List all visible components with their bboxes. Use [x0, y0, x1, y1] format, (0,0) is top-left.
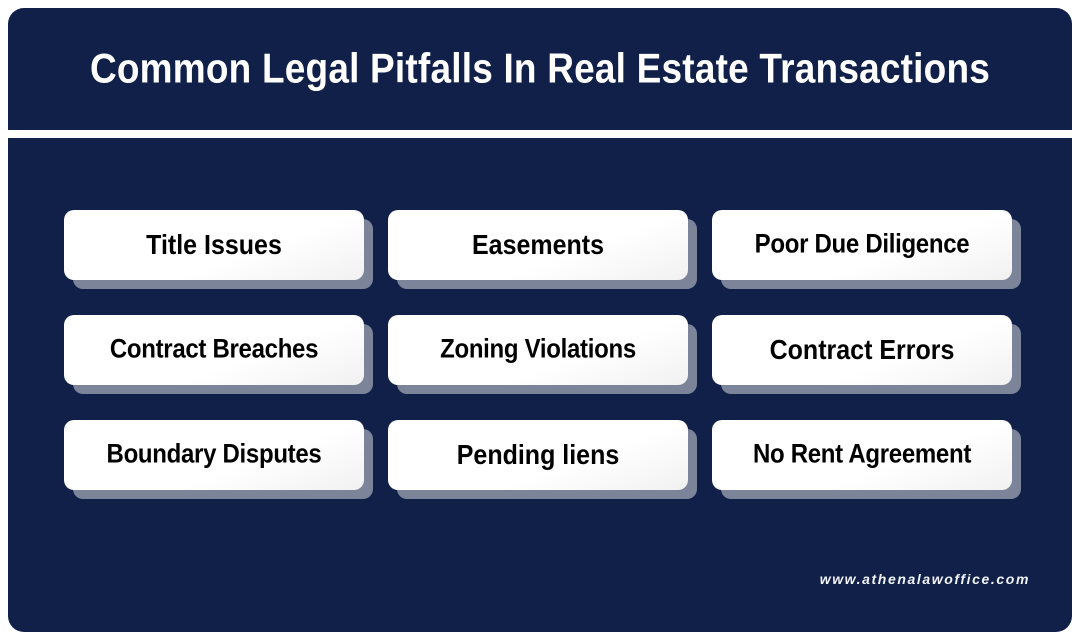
pitfall-card-pending-liens[interactable]: Pending liens	[388, 420, 688, 490]
card-label: No Rent Agreement	[747, 442, 977, 468]
website-url[interactable]: www.athenalawoffice.com	[820, 571, 1030, 587]
card-face: Boundary Disputes	[64, 420, 364, 490]
card-face: Title Issues	[64, 210, 364, 280]
pitfall-card-contract-breaches[interactable]: Contract Breaches	[64, 315, 364, 385]
pitfall-card-no-rent-agreement[interactable]: No Rent Agreement	[712, 420, 1012, 490]
header-body-divider	[8, 130, 1072, 138]
pitfall-card-zoning-violations[interactable]: Zoning Violations	[388, 315, 688, 385]
pitfall-card-poor-due-diligence[interactable]: Poor Due Diligence	[712, 210, 1012, 280]
card-label: Contract Breaches	[104, 337, 324, 363]
card-label: Zoning Violations	[434, 337, 642, 363]
card-label: Pending liens	[451, 441, 626, 469]
page-title: Common Legal Pitfalls In Real Estate Tra…	[90, 46, 990, 92]
card-face: No Rent Agreement	[712, 420, 1012, 490]
pitfall-card-contract-errors[interactable]: Contract Errors	[712, 315, 1012, 385]
card-label: Title Issues	[140, 231, 288, 259]
card-label: Contract Errors	[764, 336, 961, 364]
pitfall-card-easements[interactable]: Easements	[388, 210, 688, 280]
card-face: Pending liens	[388, 420, 688, 490]
card-label: Easements	[466, 231, 610, 259]
card-face: Easements	[388, 210, 688, 280]
card-label: Poor Due Diligence	[749, 232, 976, 258]
card-face: Zoning Violations	[388, 315, 688, 385]
pitfall-card-grid: Title Issues Easements Poor Due Diligenc…	[64, 210, 1024, 490]
pitfall-card-boundary-disputes[interactable]: Boundary Disputes	[64, 420, 364, 490]
card-face: Poor Due Diligence	[712, 210, 1012, 280]
card-label: Boundary Disputes	[101, 442, 328, 468]
infographic-poster: Common Legal Pitfalls In Real Estate Tra…	[0, 0, 1080, 640]
card-face: Contract Breaches	[64, 315, 364, 385]
body-panel: Title Issues Easements Poor Due Diligenc…	[8, 138, 1072, 632]
card-face: Contract Errors	[712, 315, 1012, 385]
pitfall-card-title-issues[interactable]: Title Issues	[64, 210, 364, 280]
header-band: Common Legal Pitfalls In Real Estate Tra…	[8, 8, 1072, 130]
